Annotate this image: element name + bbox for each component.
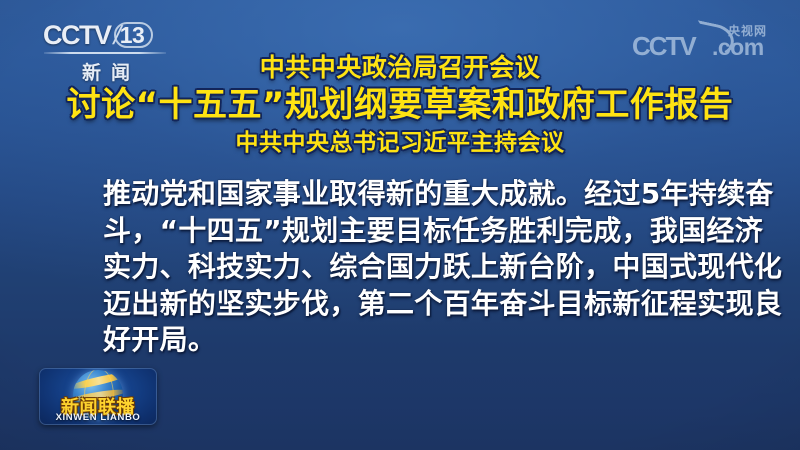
xinwen-lianbo-logo: 新闻联播 XINWEN LIANBO bbox=[39, 368, 157, 425]
body-line-2: 斗，“十四五”规划主要目标任务胜利完成，我国经济 bbox=[103, 213, 715, 250]
headline-block: 中共中央政治局召开会议 讨论“十五五”规划纲要草案和政府工作报告 中共中央总书记… bbox=[0, 52, 800, 158]
body-line-4: 迈出新的坚实步伐，第二个百年奋斗目标新征程实现良 bbox=[103, 286, 715, 323]
cctv-13-logo-row: CCTV / 13 bbox=[43, 20, 169, 50]
headline-line-2: 讨论“十五五”规划纲要草案和政府工作报告 bbox=[0, 84, 800, 126]
body-line-1: 推动党和国家事业取得新的重大成就。经过5年持续奋 bbox=[103, 176, 715, 213]
headline-line-3: 中共中央总书记习近平主持会议 bbox=[0, 128, 800, 158]
body-paragraph: 推动党和国家事业取得新的重大成就。经过5年持续奋 斗，“十四五”规划主要目标任务… bbox=[103, 176, 715, 359]
body-line-3: 实力、科技实力、综合国力跃上新台阶，中国式现代化 bbox=[103, 249, 715, 286]
watermark-network-cn: 央视网 bbox=[728, 22, 767, 39]
body-line-5: 好开局。 bbox=[103, 322, 715, 359]
headline-line-1: 中共中央政治局召开会议 bbox=[0, 52, 800, 83]
cctv-wordmark: CCTV bbox=[43, 20, 111, 50]
program-title-pinyin: XINWEN LIANBO bbox=[39, 412, 157, 423]
broadcast-screen: CCTV / 13 新闻 CCTV .com 央视网 中共中央政治局召开会议 讨… bbox=[0, 0, 800, 450]
